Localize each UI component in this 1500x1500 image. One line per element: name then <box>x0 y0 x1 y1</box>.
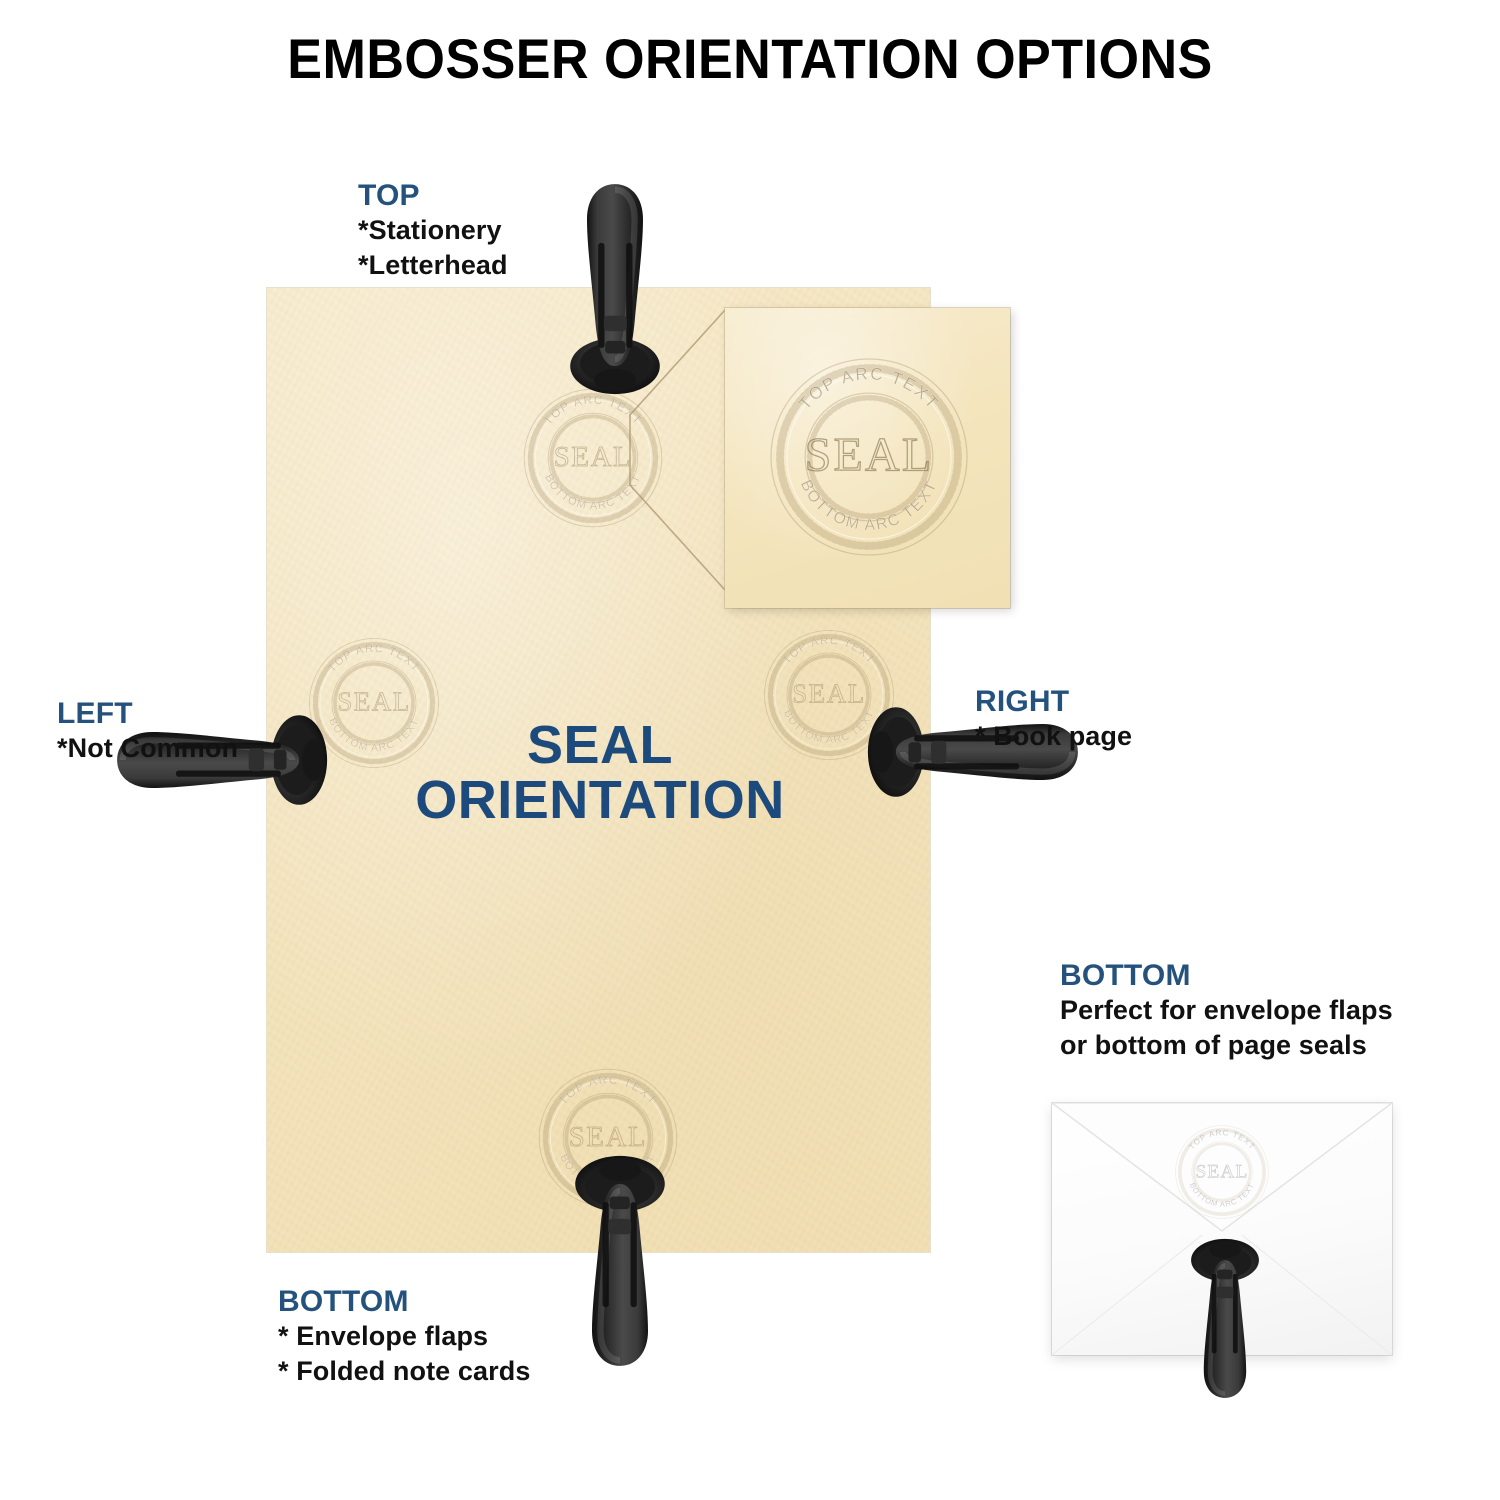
annotation-right-heading: RIGHT <box>975 684 1132 719</box>
page-title: EMBOSSER ORIENTATION OPTIONS <box>53 26 1448 91</box>
annotation-bottom-left-line-0: * Envelope flaps <box>278 1319 530 1354</box>
annotation-top-line-1: *Letterhead <box>358 248 508 283</box>
annotation-top-line-0: *Stationery <box>358 213 508 248</box>
annotation-top-heading: TOP <box>358 178 508 213</box>
annotation-bottom-right-heading: BOTTOM <box>1060 958 1393 993</box>
embosser-tool-bottom <box>550 1128 690 1398</box>
annotation-bottom-right-line-1: or bottom of page seals <box>1060 1028 1393 1063</box>
center-label-line2: ORIENTATION <box>330 773 870 828</box>
annotation-left-line-0: *Not Common <box>57 731 238 766</box>
seal-orientation-label: SEAL ORIENTATION <box>330 718 870 828</box>
annotation-bottom-right: BOTTOM Perfect for envelope flaps or bot… <box>1060 958 1393 1062</box>
svg-text:TOP ARC TEXT: TOP ARC TEXT <box>795 364 943 413</box>
annotation-bottom-left: BOTTOM * Envelope flaps * Folded note ca… <box>278 1284 530 1388</box>
diagram-canvas: EMBOSSER ORIENTATION OPTIONS TOP ARC TEX… <box>0 0 1500 1500</box>
svg-text:SEAL: SEAL <box>805 429 934 482</box>
seal-impression-magnified: TOP ARC TEXT BOTTOM ARC TEXT SEAL <box>755 343 983 571</box>
annotation-bottom-left-line-1: * Folded note cards <box>278 1354 530 1389</box>
annotation-left-heading: LEFT <box>57 696 238 731</box>
annotation-top: TOP *Stationery *Letterhead <box>358 178 508 282</box>
embosser-tool-top <box>545 152 685 422</box>
center-label-line1: SEAL <box>330 718 870 773</box>
annotation-bottom-right-line-0: Perfect for envelope flaps <box>1060 993 1393 1028</box>
annotation-right: RIGHT * Book page <box>975 684 1132 754</box>
callout-panel: TOP ARC TEXT BOTTOM ARC TEXT SEAL <box>725 308 1010 608</box>
svg-text:SEAL: SEAL <box>1196 1161 1249 1182</box>
svg-text:TOP ARC TEXT: TOP ARC TEXT <box>1187 1128 1257 1151</box>
annotation-bottom-left-heading: BOTTOM <box>278 1284 530 1319</box>
annotation-left: LEFT *Not Common <box>57 696 238 766</box>
annotation-right-line-0: * Book page <box>975 719 1132 754</box>
svg-text:TOP ARC TEXT: TOP ARC TEXT <box>556 1072 660 1107</box>
embosser-tool-envelope <box>1172 1200 1278 1440</box>
